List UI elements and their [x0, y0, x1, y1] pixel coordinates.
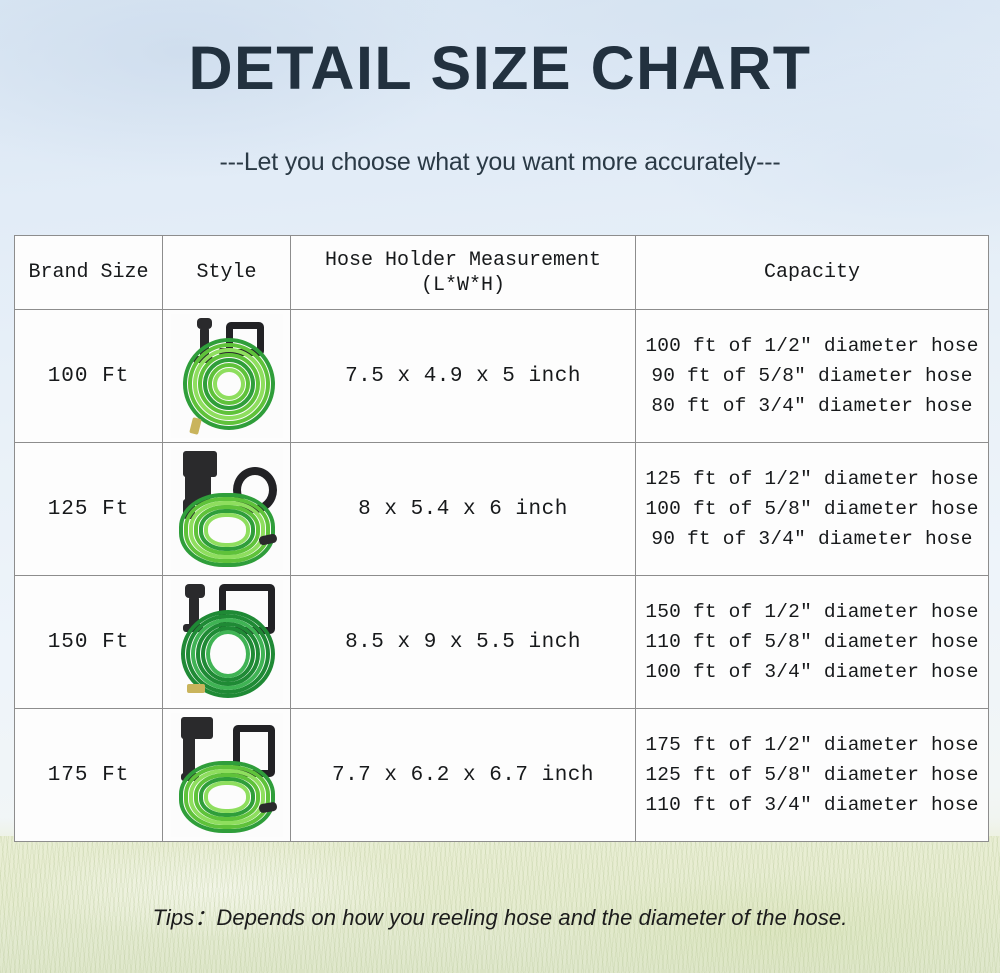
cell-brand-size: 100 Ft	[15, 310, 163, 443]
column-header-measurement-line2: (L*W*H)	[291, 273, 635, 298]
tips-note: Tips：Depends on how you reeling hose and…	[0, 900, 1000, 932]
capacity-line: 110 ft of 3/4″ diameter hose	[636, 790, 988, 820]
capacity-line: 125 ft of 1/2″ diameter hose	[636, 464, 988, 494]
cell-style	[163, 443, 291, 576]
table-row: 175 Ft	[15, 709, 989, 842]
capacity-line: 90 ft of 5/8″ diameter hose	[636, 361, 988, 391]
column-header-measurement: Hose Holder Measurement (L*W*H)	[291, 236, 636, 310]
size-chart-page: DETAIL SIZE CHART ---Let you choose what…	[0, 0, 1000, 973]
cell-brand-size: 175 Ft	[15, 709, 163, 842]
cell-measurement: 8 x 5.4 x 6 inch	[291, 443, 636, 576]
capacity-line: 125 ft of 5/8″ diameter hose	[636, 760, 988, 790]
capacity-line: 80 ft of 3/4″ diameter hose	[636, 391, 988, 421]
table-body: 100 Ft	[15, 310, 989, 842]
cell-style	[163, 310, 291, 443]
table-row: 125 Ft	[15, 443, 989, 576]
capacity-line: 175 ft of 1/2″ diameter hose	[636, 730, 988, 760]
table-row: 100 Ft	[15, 310, 989, 443]
table-header: Brand Size Style Hose Holder Measurement…	[15, 236, 989, 310]
cell-style	[163, 709, 291, 842]
cell-measurement: 8.5 x 9 x 5.5 inch	[291, 576, 636, 709]
capacity-line: 100 ft of 5/8″ diameter hose	[636, 494, 988, 524]
column-header-capacity: Capacity	[636, 236, 989, 310]
page-subtitle: ---Let you choose what you want more acc…	[0, 148, 1000, 177]
product-image-100ft	[171, 314, 283, 438]
cell-capacity: 125 ft of 1/2″ diameter hose 100 ft of 5…	[636, 443, 989, 576]
column-header-measurement-line1: Hose Holder Measurement	[291, 248, 635, 273]
product-image-175ft	[171, 713, 283, 837]
cell-capacity: 100 ft of 1/2″ diameter hose 90 ft of 5/…	[636, 310, 989, 443]
product-image-125ft	[171, 447, 283, 571]
cell-measurement: 7.7 x 6.2 x 6.7 inch	[291, 709, 636, 842]
column-header-brand-size: Brand Size	[15, 236, 163, 310]
capacity-line: 100 ft of 3/4″ diameter hose	[636, 657, 988, 687]
cell-measurement: 7.5 x 4.9 x 5 inch	[291, 310, 636, 443]
cell-brand-size: 150 Ft	[15, 576, 163, 709]
column-header-style: Style	[163, 236, 291, 310]
product-image-150ft	[171, 580, 283, 704]
cell-style	[163, 576, 291, 709]
cell-brand-size: 125 Ft	[15, 443, 163, 576]
cell-capacity: 175 ft of 1/2″ diameter hose 125 ft of 5…	[636, 709, 989, 842]
capacity-line: 150 ft of 1/2″ diameter hose	[636, 597, 988, 627]
page-title: DETAIL SIZE CHART	[0, 36, 1000, 100]
capacity-line: 100 ft of 1/2″ diameter hose	[636, 331, 988, 361]
capacity-line: 90 ft of 3/4″ diameter hose	[636, 524, 988, 554]
table-row: 150 Ft	[15, 576, 989, 709]
detail-size-table: Brand Size Style Hose Holder Measurement…	[14, 235, 989, 842]
cell-capacity: 150 ft of 1/2″ diameter hose 110 ft of 5…	[636, 576, 989, 709]
capacity-line: 110 ft of 5/8″ diameter hose	[636, 627, 988, 657]
table-header-row: Brand Size Style Hose Holder Measurement…	[15, 236, 989, 310]
